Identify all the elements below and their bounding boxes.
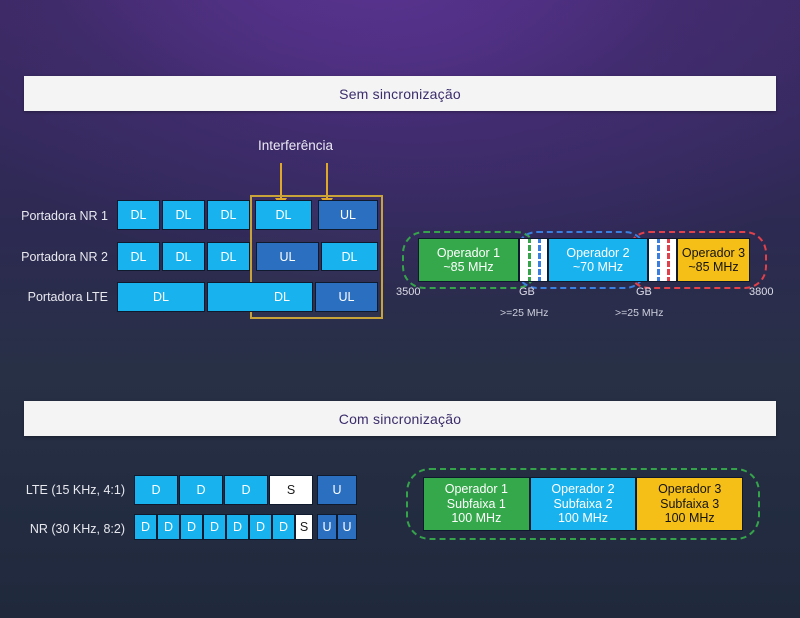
row-label-lte-sync: LTE (15 KHz, 4:1)	[10, 483, 125, 497]
spectrum-gb-label-2: GB	[636, 286, 652, 298]
unsync-r3-blk-2: DL	[207, 282, 313, 312]
unsync-r1-blk-2: DL	[162, 200, 205, 230]
spectrum-sync-op-2: Operador 2 Subfaixa 2 100 MHz	[530, 477, 637, 531]
unsync-r1-blk-1: DL	[117, 200, 160, 230]
unsync-r2-blk-1: DL	[117, 242, 160, 271]
sync-lte-blk-2: D	[179, 475, 223, 505]
sync-nr-blk-5: D	[226, 514, 249, 540]
interference-label: Interferência	[258, 138, 333, 153]
spectrum-sync-op-1-bw: 100 MHz	[451, 511, 501, 525]
spectrum-op-2: Operador 2 ~70 MHz	[548, 238, 648, 282]
row-label-portadora-nr-2: Portadora NR 2	[8, 250, 108, 264]
spectrum-sync-op-2-subband: Subfaixa 2	[553, 497, 612, 511]
spectrum-sync-op-3: Operador 3 Subfaixa 3 100 MHz	[636, 477, 743, 531]
spectrum-sync-op-1-subband: Subfaixa 1	[447, 497, 506, 511]
unsync-r3-blk-1: DL	[117, 282, 205, 312]
spectrum-op-1: Operador 1 ~85 MHz	[418, 238, 519, 282]
spectrum-gb-note-2: >=25 MHz	[615, 307, 663, 319]
interference-arrow-1-icon	[280, 163, 282, 199]
banner-sem-sincronizacao: Sem sincronização	[24, 76, 776, 111]
spectrum-op-2-bw: ~70 MHz	[573, 260, 623, 274]
spectrum-op-3-name: Operador 3	[682, 246, 745, 260]
spectrum-gb-label-1: GB	[519, 286, 535, 298]
unsync-r1-blk-4: DL	[255, 200, 312, 230]
spectrum-sync-op-3-subband: Subfaixa 3	[660, 497, 719, 511]
spectrum-op-3-bw: ~85 MHz	[688, 260, 738, 274]
unsync-r2-blk-5: DL	[321, 242, 378, 271]
spectrum-guardband-1	[519, 238, 548, 282]
spectrum-sync-op-3-name: Operador 3	[658, 482, 721, 496]
spectrum-scale-start: 3500	[396, 286, 420, 298]
sync-lte-blk-3: D	[224, 475, 268, 505]
row-label-nr-sync: NR (30 KHz, 8:2)	[10, 522, 125, 536]
sync-nr-blk-2: D	[157, 514, 180, 540]
spectrum-sync: Operador 1 Subfaixa 1 100 MHz Operador 2…	[423, 477, 743, 531]
sync-nr-blk-6: D	[249, 514, 272, 540]
spectrum-sync-op-1-name: Operador 1	[445, 482, 508, 496]
unsync-r2-blk-4: UL	[256, 242, 319, 271]
banner-bottom-label: Com sincronização	[339, 411, 461, 427]
spectrum-op-1-bw: ~85 MHz	[443, 260, 493, 274]
sync-nr-blk-10: U	[337, 514, 357, 540]
sync-nr-blk-4: D	[203, 514, 226, 540]
spectrum-gb-note-1: >=25 MHz	[500, 307, 548, 319]
unsync-r2-blk-3: DL	[207, 242, 250, 271]
spectrum-sync-op-3-bw: 100 MHz	[665, 511, 715, 525]
banner-com-sincronizacao: Com sincronização	[24, 401, 776, 436]
spectrum-sync-op-2-name: Operador 2	[551, 482, 614, 496]
spectrum-unsync: Operador 1 ~85 MHz Operador 2 ~70 MHz Op…	[418, 238, 750, 282]
spectrum-op-2-name: Operador 2	[566, 246, 629, 260]
sync-nr-blk-1: D	[134, 514, 157, 540]
row-label-portadora-nr-1: Portadora NR 1	[8, 209, 108, 223]
sync-nr-blk-9: U	[317, 514, 337, 540]
spectrum-scale-end: 3800	[749, 286, 773, 298]
banner-top-label: Sem sincronização	[339, 86, 461, 102]
spectrum-sync-op-2-bw: 100 MHz	[558, 511, 608, 525]
sync-lte-blk-1: D	[134, 475, 178, 505]
sync-nr-blk-7: D	[272, 514, 295, 540]
sync-lte-blk-4: S	[269, 475, 313, 505]
spectrum-guardband-2	[648, 238, 677, 282]
spectrum-sync-op-1: Operador 1 Subfaixa 1 100 MHz	[423, 477, 530, 531]
sync-nr-blk-3: D	[180, 514, 203, 540]
row-label-portadora-lte: Portadora LTE	[8, 290, 108, 304]
interference-arrow-2-icon	[326, 163, 328, 199]
sync-lte-blk-5: U	[317, 475, 357, 505]
unsync-r3-blk-3: UL	[315, 282, 378, 312]
sync-nr-blk-8: S	[295, 514, 313, 540]
spectrum-op-1-name: Operador 1	[437, 246, 500, 260]
unsync-r2-blk-2: DL	[162, 242, 205, 271]
spectrum-op-3: Operador 3 ~85 MHz	[677, 238, 750, 282]
unsync-r1-blk-5: UL	[318, 200, 378, 230]
unsync-r1-blk-3: DL	[207, 200, 250, 230]
